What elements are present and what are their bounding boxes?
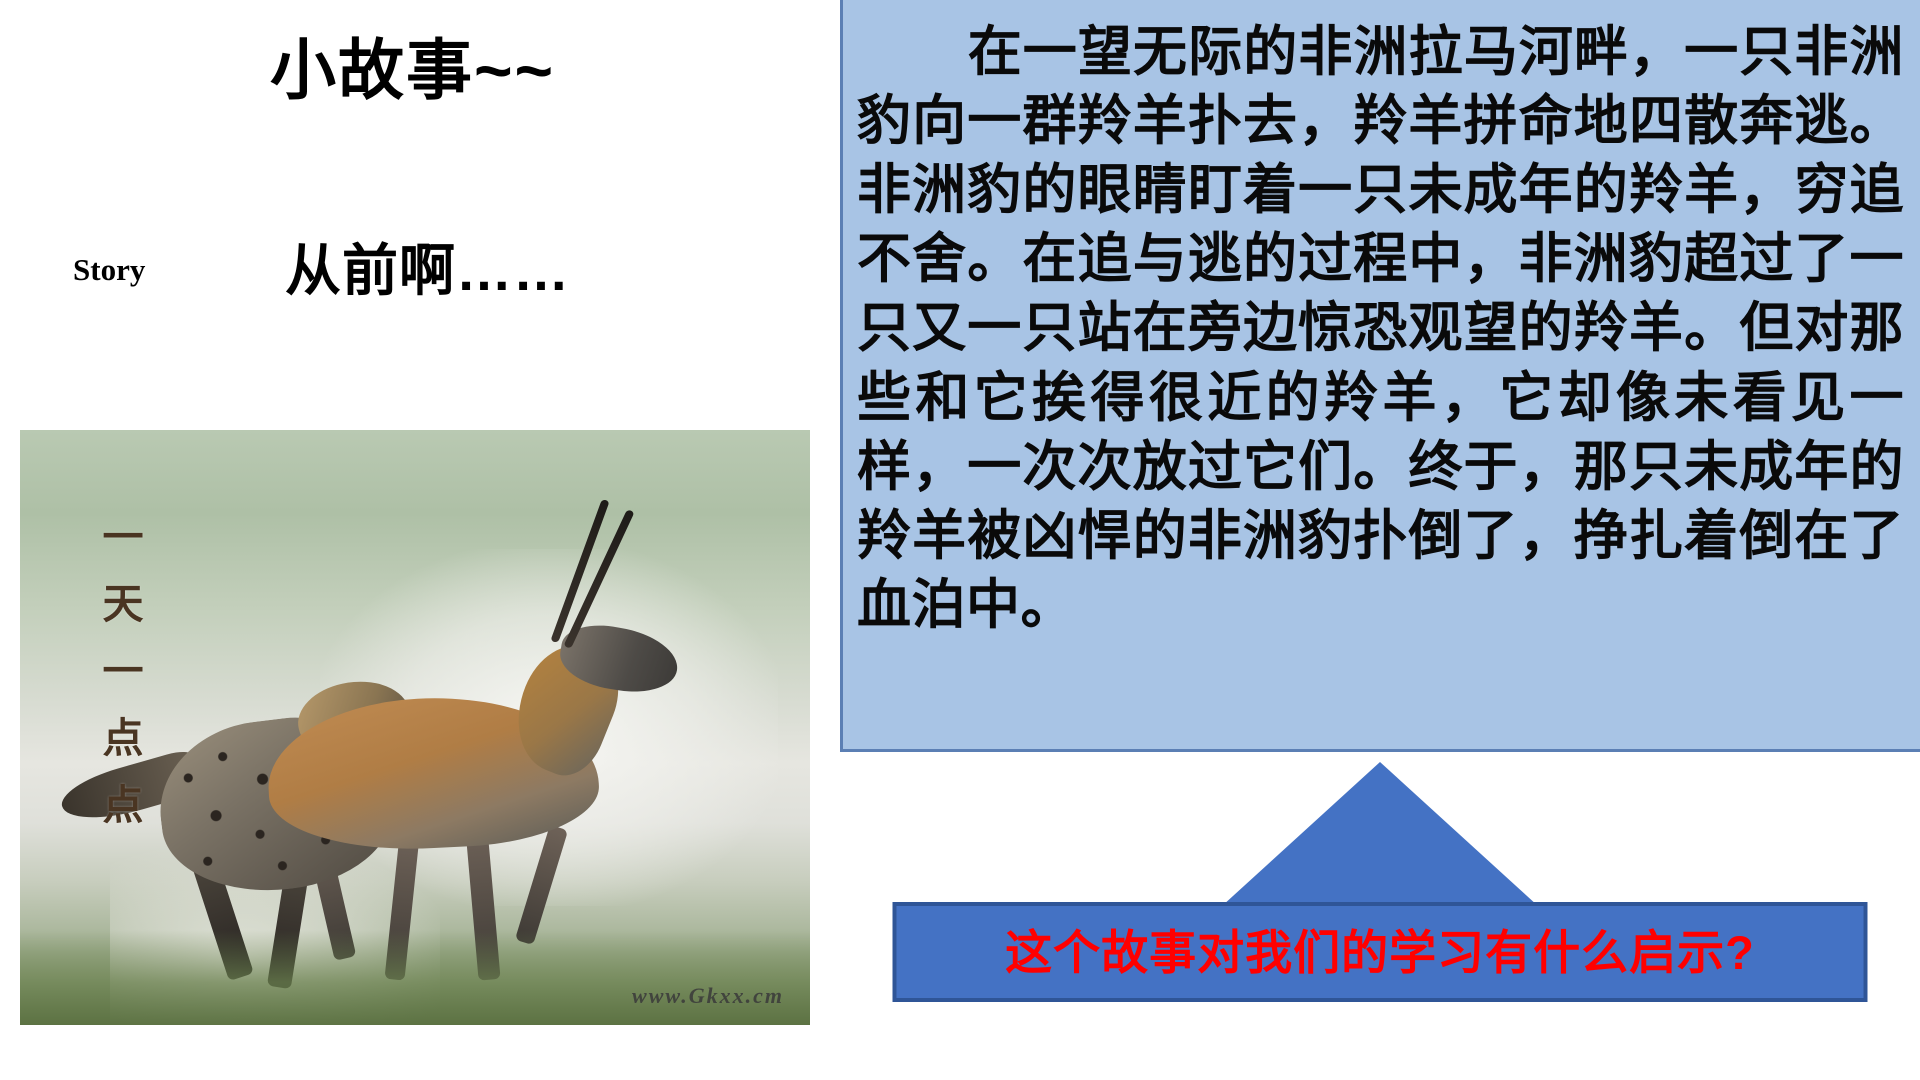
- arrow-and-question-area: 这个故事对我们的学习有什么启示?: [840, 752, 1920, 1080]
- page-subtitle: 从前啊……: [285, 240, 570, 302]
- photo-vertical-caption: 一天一点点: [98, 515, 139, 850]
- left-column: 小故事~~ Story 从前啊…… 一天一点点 www.Gkxx.cm: [0, 0, 830, 1080]
- question-banner-label: 这个故事对我们的学习有什么启示?: [1005, 929, 1755, 976]
- question-banner[interactable]: 这个故事对我们的学习有什么启示?: [893, 902, 1868, 1002]
- story-text-box: 在一望无际的非洲拉马河畔，一只非洲豹向一群羚羊扑去，羚羊拼命地四散奔逃。非洲豹的…: [840, 0, 1920, 752]
- photo-watermark: www.Gkxx.cm: [632, 983, 784, 1009]
- arrow-down-icon: [1222, 762, 1538, 906]
- grass-foreground: [20, 930, 810, 1025]
- slide-canvas: 小故事~~ Story 从前啊…… 一天一点点 www.Gkxx.cm: [0, 0, 1920, 1080]
- page-title: 小故事~~: [270, 34, 555, 107]
- cheetah-chase-photo: 一天一点点 www.Gkxx.cm: [20, 430, 810, 1025]
- story-paragraph: 在一望无际的非洲拉马河畔，一只非洲豹向一群羚羊扑去，羚羊拼命地四散奔逃。非洲豹的…: [857, 18, 1904, 640]
- story-label: Story: [73, 252, 145, 288]
